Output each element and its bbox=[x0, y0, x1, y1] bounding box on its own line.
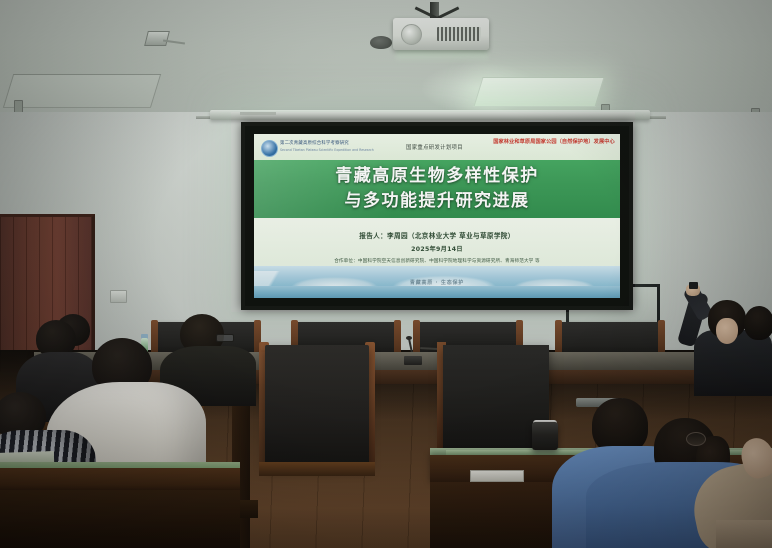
light-switch-plate[interactable] bbox=[110, 290, 127, 303]
projection-screen-housing[interactable] bbox=[210, 110, 650, 120]
projector bbox=[393, 18, 489, 50]
wooden-armchair bbox=[265, 345, 369, 467]
slide-presenter-line: 报告人：李周园（北京林业大学 草业与草原学院） bbox=[254, 230, 620, 240]
hair-tie bbox=[686, 432, 706, 446]
name-card-placard bbox=[470, 470, 524, 482]
ceiling-panel bbox=[3, 74, 161, 108]
desktop-speaker bbox=[532, 422, 558, 450]
projection-screen[interactable]: 第二次青藏高原综合科学考察研究 Second Tibetan Plateau S… bbox=[241, 122, 633, 310]
projector-glow bbox=[396, 48, 488, 62]
conference-chair bbox=[560, 322, 660, 356]
air-vent-icon bbox=[144, 31, 170, 46]
chair-seat bbox=[259, 462, 375, 476]
microphone-head-icon bbox=[406, 336, 412, 340]
glasses-icon bbox=[216, 334, 234, 342]
conference-room-screenshot: 第二次青藏高原综合科学考察研究 Second Tibetan Plateau S… bbox=[0, 0, 772, 548]
attendee-shoulder bbox=[716, 520, 772, 548]
slide-title-line-2: 与多功能提升研究进展 bbox=[254, 189, 620, 214]
slide-org-name: 第二次青藏高原综合科学考察研究 bbox=[280, 141, 392, 146]
projector-vent bbox=[437, 27, 481, 41]
slide-org-name-sub: Second Tibetan Plateau Scientific Expedi… bbox=[280, 148, 392, 152]
presentation-slide: 第二次青藏高原综合科学考察研究 Second Tibetan Plateau S… bbox=[254, 134, 620, 298]
slide-department-label: 国家林业和草原局国家公园（自然保护地）发展中心 bbox=[492, 139, 616, 146]
attendee-head bbox=[744, 306, 772, 340]
audience-desk-left bbox=[0, 468, 240, 492]
lake-water bbox=[254, 286, 620, 298]
smoke-detector-icon bbox=[370, 36, 392, 49]
standing-man-face bbox=[716, 318, 738, 344]
phone-icon bbox=[689, 282, 698, 289]
ceiling-light-panel bbox=[473, 77, 604, 107]
microphone-base bbox=[404, 356, 422, 365]
slide-partners-line: 合作单位：中国科学院空天信息创新研究院、中国科学院地理科学与资源研究所、青海师范… bbox=[254, 258, 620, 264]
expedition-logo-icon bbox=[261, 140, 278, 157]
slide-title-line-1: 青藏高原生物多样性保护 bbox=[254, 164, 620, 189]
slide-title: 青藏高原生物多样性保护 与多功能提升研究进展 bbox=[254, 164, 620, 214]
screen-pull-tab[interactable] bbox=[240, 112, 276, 115]
desk-front-panel bbox=[0, 490, 240, 548]
slide-program-label: 国家重点研发计划项目 bbox=[406, 143, 463, 151]
slide-photo-caption: 青藏高原 · 生态保护 bbox=[254, 279, 620, 286]
slide-date-line: 2025年9月14日 bbox=[254, 244, 620, 253]
projector-lens-icon bbox=[401, 24, 422, 45]
